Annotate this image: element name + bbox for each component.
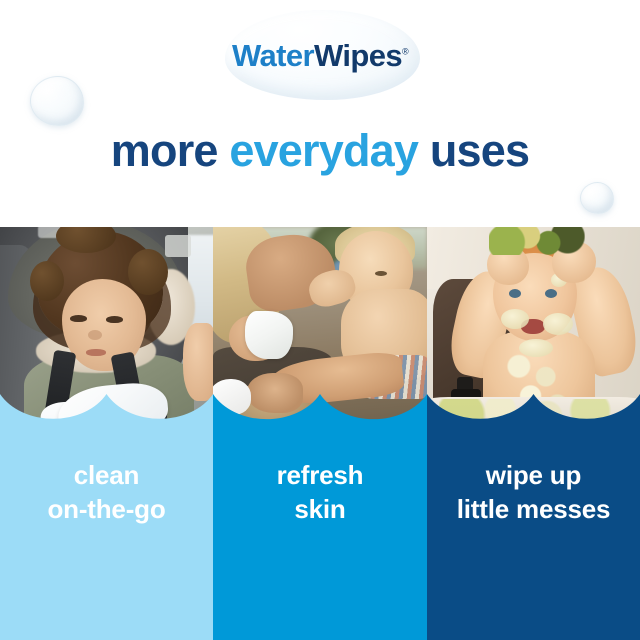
caption-wipe-up-little-messes: wipe up little messes (427, 459, 640, 527)
caption-line-2: little messes (435, 493, 632, 527)
caption-refresh-skin: refresh skin (213, 459, 427, 527)
panel-refresh-skin[interactable]: refresh skin (213, 227, 427, 640)
caption-line-1: wipe up (435, 459, 632, 493)
page-title: more everyday uses (0, 126, 640, 176)
brand-logo[interactable]: WaterWipes® (0, 40, 640, 71)
caption-line-2: skin (221, 493, 419, 527)
logo-text-water: Water (232, 38, 314, 73)
caption-clean-on-the-go: clean on-the-go (0, 459, 213, 527)
water-droplet-icon (580, 182, 614, 214)
headline-word-everyday: everyday (229, 125, 418, 176)
use-case-panels: clean on-the-go (0, 227, 640, 640)
caption-line-1: clean (8, 459, 205, 493)
registered-trademark-icon: ® (402, 47, 408, 57)
header-section: WaterWipes® more everyday uses (0, 0, 640, 227)
caption-line-1: refresh (221, 459, 419, 493)
headline-word-uses: uses (430, 125, 529, 176)
caption-line-2: on-the-go (8, 493, 205, 527)
panel-clean-on-the-go[interactable]: clean on-the-go (0, 227, 213, 640)
advertisement-canvas: WaterWipes® more everyday uses (0, 0, 640, 640)
logo-text-wipes: Wipes (314, 38, 402, 73)
water-droplet-icon (30, 76, 84, 126)
photo-clean-on-the-go (0, 227, 213, 427)
photo-refresh-skin (213, 227, 427, 427)
photo-wipe-up-little-messes (427, 227, 640, 427)
headline-word-more: more (111, 125, 218, 176)
panel-wipe-up-little-messes[interactable]: wipe up little messes (427, 227, 640, 640)
